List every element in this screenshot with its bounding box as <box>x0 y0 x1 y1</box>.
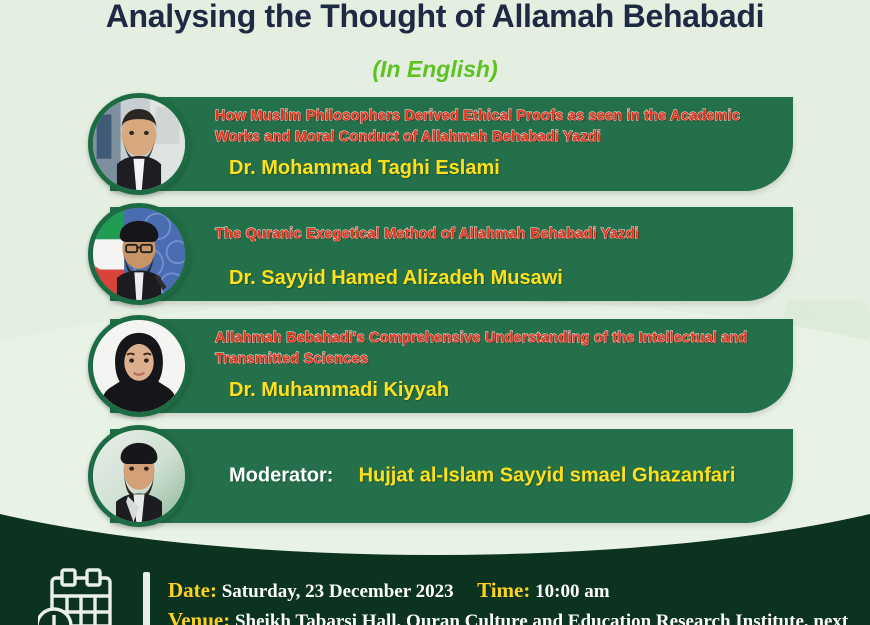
venue-line: Venue: Sheikh Tabarsi Hall, Quran Cultur… <box>168 606 860 625</box>
speaker-photo-2 <box>88 203 190 305</box>
session-speaker-1: Dr. Mohammad Taghi Eslami <box>229 157 500 180</box>
session-speaker-3: Dr. Muhammadi Kiyyah <box>229 379 449 402</box>
time-label: Time: <box>477 578 530 602</box>
speaker-photo-sayyid-hamed-alizadeh-musawi <box>93 208 185 300</box>
speaker-photo-1 <box>88 93 190 195</box>
speaker-photo-mohammad-taghi-eslami <box>93 98 185 190</box>
session-bar-3: Allahmah Bebahadi's Comprehensive Unders… <box>110 319 793 413</box>
session-topic-2: The Quranic Exegetical Method of Allahma… <box>215 224 775 245</box>
time-value: 10:00 am <box>535 581 609 602</box>
venue-value: Sheikh Tabarsi Hall, Quran Culture and E… <box>235 611 848 625</box>
session-speaker-2: Dr. Sayyid Hamed Alizadeh Musawi <box>229 267 563 290</box>
session-bar-1: How Muslim Philosophers Derived Ethical … <box>110 97 793 191</box>
moderator-photo-ismael-ghazanfari <box>93 430 185 522</box>
footer-details: Date: Saturday, 23 December 2023 Time: 1… <box>168 576 860 625</box>
moderator-bar: Moderator: Hujjat al-Islam Sayyid smael … <box>110 429 793 523</box>
date-value: Saturday, 23 December 2023 <box>222 581 454 602</box>
footer-divider <box>143 572 150 625</box>
moderator-photo <box>88 425 190 527</box>
event-poster: Analysing the Thought of Allamah Behabad… <box>0 0 870 625</box>
page-title: Analysing the Thought of Allamah Behabad… <box>0 0 870 35</box>
calendar-clock-icon <box>38 568 124 625</box>
moderator-name: Hujjat al-Islam Sayyid smael Ghazanfari <box>359 465 736 487</box>
session-topic-3: Allahmah Bebahadi's Comprehensive Unders… <box>215 328 775 370</box>
speaker-photo-muhammadi-kiyyah <box>93 320 185 412</box>
date-label: Date: <box>168 578 217 602</box>
speaker-photo-3 <box>88 315 190 417</box>
moderator-label: Moderator: <box>229 465 333 487</box>
moderator-line: Moderator: Hujjat al-Islam Sayyid smael … <box>229 465 735 488</box>
date-time-line: Date: Saturday, 23 December 2023 Time: 1… <box>168 576 860 606</box>
session-topic-1: How Muslim Philosophers Derived Ethical … <box>215 106 775 148</box>
language-subtitle: (In English) <box>0 56 870 83</box>
session-bar-2: The Quranic Exegetical Method of Allahma… <box>110 207 793 301</box>
venue-label: Venue: <box>168 608 230 625</box>
